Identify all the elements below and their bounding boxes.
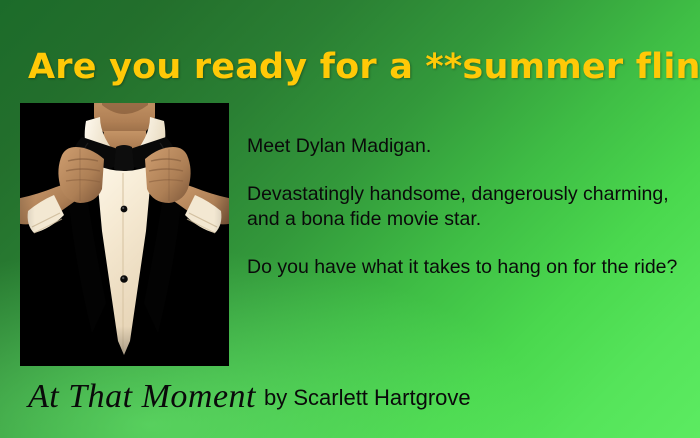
footer-credit: At That Momentby Scarlett Hartgrove	[28, 378, 471, 416]
headline-text: Are you ready for a **summer fling**?	[28, 46, 688, 88]
body-copy: Meet Dylan Madigan. Devastatingly handso…	[247, 134, 687, 280]
body-paragraph-2: Devastatingly handsome, dangerously char…	[247, 182, 687, 232]
body-paragraph-1: Meet Dylan Madigan.	[247, 134, 687, 159]
book-cover-photo	[20, 103, 229, 366]
promo-poster: Are you ready for a **summer fling**?	[0, 0, 700, 438]
tuxedo-man-illustration	[20, 103, 229, 366]
book-title: At That Moment	[28, 378, 256, 415]
author-byline: by Scarlett Hartgrove	[264, 385, 471, 410]
body-paragraph-3: Do you have what it takes to hang on for…	[247, 255, 687, 280]
